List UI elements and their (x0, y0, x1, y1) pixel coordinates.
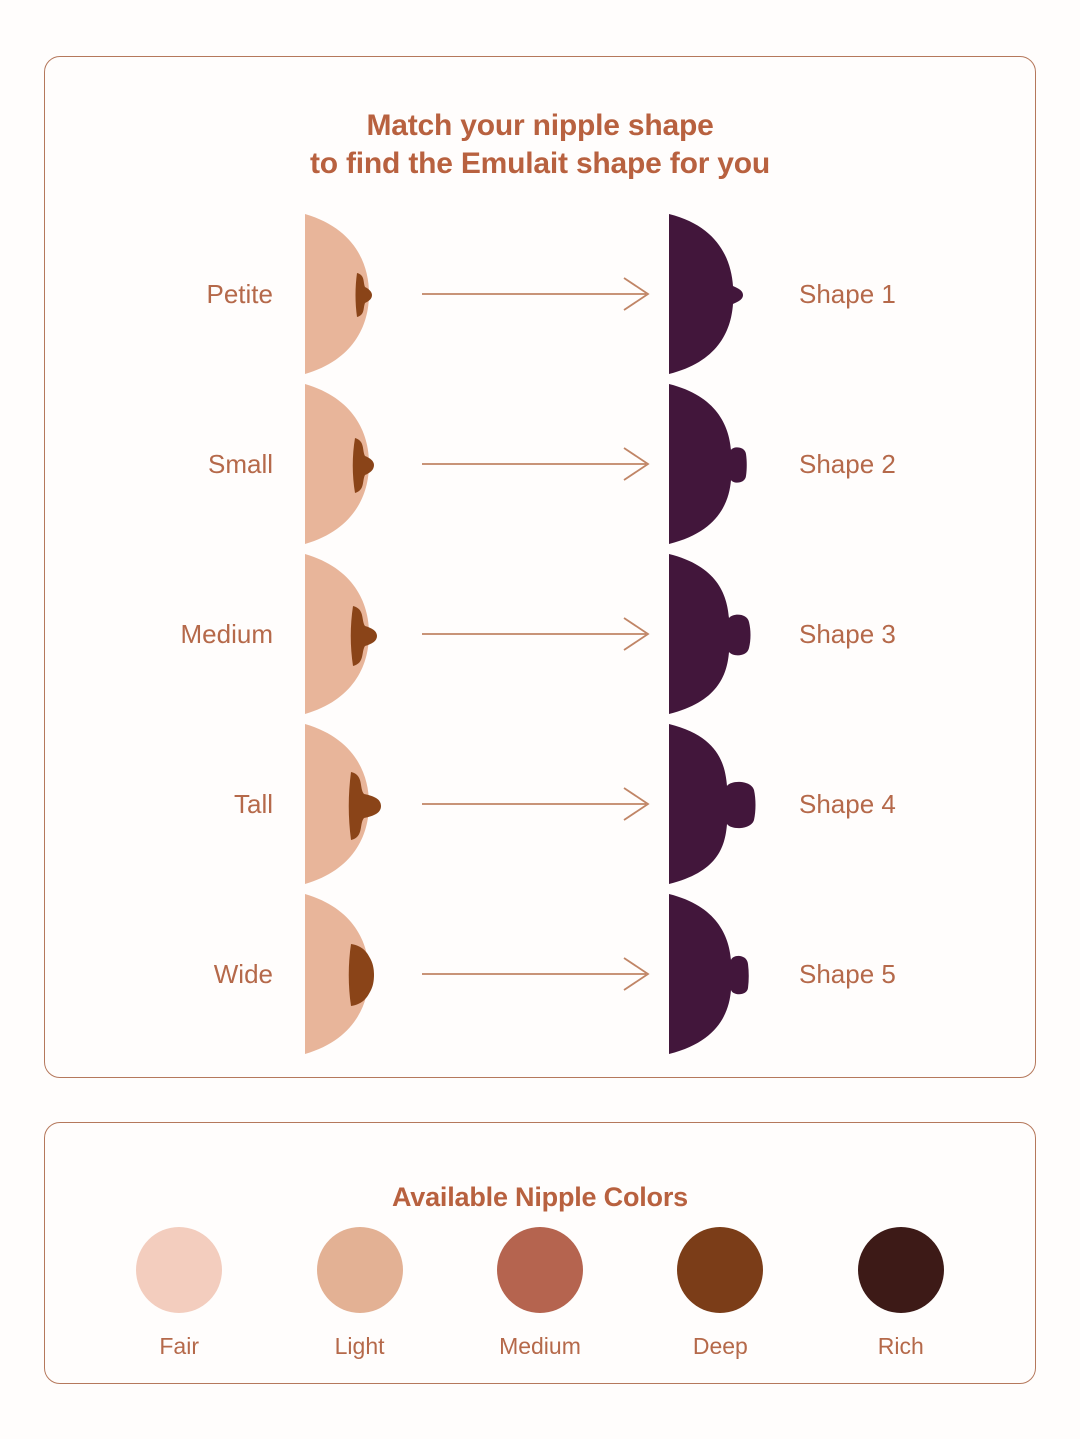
nipple-shape-label: Petite (45, 279, 295, 309)
available-colors-card: Available Nipple Colors Fair Light Mediu… (44, 1122, 1036, 1384)
color-swatch-light[interactable]: Light (285, 1227, 435, 1359)
color-swatch-medium[interactable]: Medium (465, 1227, 615, 1359)
breast-profile-icon (295, 210, 377, 378)
swatch-label: Deep (693, 1333, 748, 1359)
swatch-label: Rich (878, 1333, 924, 1359)
infographic-page: Match your nipple shape to find the Emul… (0, 0, 1080, 1439)
bottle-teat-shape-2 (665, 380, 777, 548)
swatch-dot (497, 1227, 583, 1313)
swatch-dot (136, 1227, 222, 1313)
bottle-teat-icon (665, 210, 751, 378)
bottle-teat-icon (665, 720, 757, 888)
bottle-teat-shape-3 (665, 550, 777, 718)
color-swatch-deep[interactable]: Deep (645, 1227, 795, 1359)
shape-match-card: Match your nipple shape to find the Emul… (44, 56, 1036, 1078)
arrow-right-icon (420, 787, 652, 821)
bottle-teat-shape-4 (665, 720, 777, 888)
breast-profile-tall (295, 720, 407, 888)
shape-match-row-list: Petite (45, 209, 1037, 1059)
match-arrow (407, 277, 665, 311)
breast-profile-wide (295, 890, 407, 1058)
shape-match-row: Wide Sh (45, 889, 1037, 1059)
swatch-label: Fair (159, 1333, 199, 1359)
emulait-shape-label: Shape 5 (777, 959, 1037, 989)
breast-profile-medium (295, 550, 407, 718)
shape-card-title: Match your nipple shape to find the Emul… (45, 107, 1035, 183)
arrow-right-icon (420, 957, 652, 991)
color-card-title: Available Nipple Colors (45, 1181, 1035, 1213)
breast-profile-icon (295, 380, 377, 548)
color-swatch-list: Fair Light Medium Deep Rich (45, 1227, 1035, 1359)
swatch-dot (858, 1227, 944, 1313)
emulait-shape-label: Shape 4 (777, 789, 1037, 819)
shape-card-title-line-2: to find the Emulait shape for you (45, 145, 1035, 183)
match-arrow (407, 957, 665, 991)
bottle-teat-shape-5 (665, 890, 777, 1058)
breast-profile-small (295, 380, 407, 548)
nipple-shape-label: Wide (45, 959, 295, 989)
color-swatch-fair[interactable]: Fair (104, 1227, 254, 1359)
arrow-right-icon (420, 447, 652, 481)
nipple-shape-label: Tall (45, 789, 295, 819)
shape-match-row: Medium (45, 549, 1037, 719)
match-arrow (407, 617, 665, 651)
nipple-shape-label: Medium (45, 619, 295, 649)
bottle-teat-shape-1 (665, 210, 777, 378)
emulait-shape-label: Shape 3 (777, 619, 1037, 649)
breast-profile-icon (295, 550, 377, 718)
shape-card-title-line-1: Match your nipple shape (45, 107, 1035, 145)
arrow-right-icon (420, 617, 652, 651)
breast-profile-icon (295, 720, 381, 888)
color-swatch-rich[interactable]: Rich (826, 1227, 976, 1359)
swatch-label: Medium (499, 1333, 581, 1359)
swatch-label: Light (335, 1333, 385, 1359)
match-arrow (407, 447, 665, 481)
breast-profile-petite (295, 210, 407, 378)
bottle-teat-icon (665, 380, 751, 548)
emulait-shape-label: Shape 2 (777, 449, 1037, 479)
shape-match-row: Tall Sh (45, 719, 1037, 889)
nipple-shape-label: Small (45, 449, 295, 479)
bottle-teat-icon (665, 550, 751, 718)
breast-profile-icon (295, 890, 377, 1058)
match-arrow (407, 787, 665, 821)
bottle-teat-icon (665, 890, 751, 1058)
swatch-dot (317, 1227, 403, 1313)
shape-match-row: Small S (45, 379, 1037, 549)
swatch-dot (677, 1227, 763, 1313)
shape-match-row: Petite (45, 209, 1037, 379)
arrow-right-icon (420, 277, 652, 311)
emulait-shape-label: Shape 1 (777, 279, 1037, 309)
